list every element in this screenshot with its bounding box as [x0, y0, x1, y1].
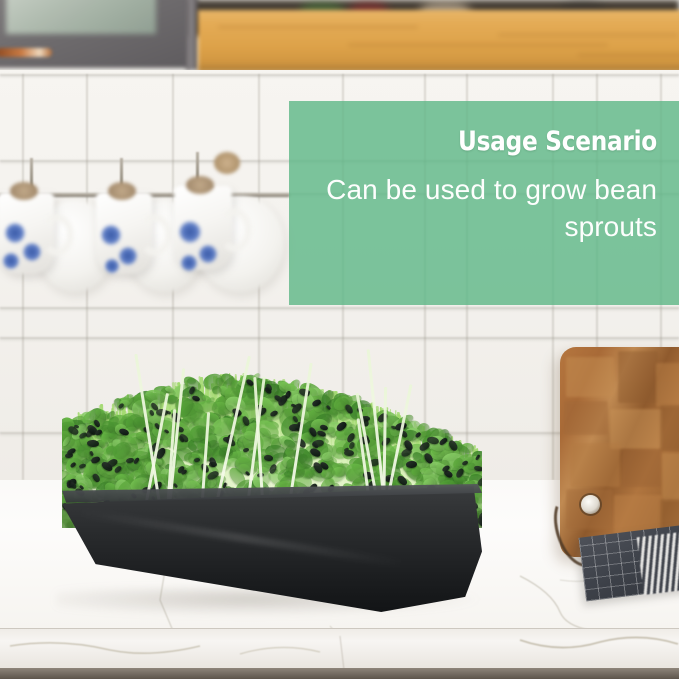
floral-pattern [100, 224, 122, 246]
floral-pattern [22, 242, 42, 262]
floral-pattern [104, 258, 120, 274]
sprout-leaf [419, 468, 432, 475]
cabinet-handle [0, 48, 52, 57]
wooden-hook-knob [214, 152, 240, 174]
floral-pattern [180, 254, 198, 272]
floral-pattern [2, 252, 20, 270]
seed-hull [344, 449, 354, 456]
grout-line-horizontal [0, 307, 679, 309]
cabinet-edge [186, 0, 198, 70]
seed-hull [87, 439, 99, 447]
floral-pattern [4, 222, 26, 244]
mug-handle [138, 214, 172, 256]
usage-scenario-body: Can be used to grow bean sprouts [289, 171, 657, 245]
floral-pattern [118, 246, 138, 266]
floral-pattern [178, 220, 202, 244]
mug-knob [108, 182, 136, 200]
mug-handle [218, 208, 252, 252]
mug-handle [40, 214, 74, 256]
sprout-tray [62, 338, 482, 618]
mug-knob [10, 182, 38, 200]
marble-veining-edge [0, 628, 679, 670]
cabinet-glass-pane [6, 0, 156, 34]
wooden-shelf [198, 10, 679, 72]
seed-hull [405, 460, 416, 467]
product-scene: Usage Scenario Can be used to grow bean … [0, 0, 679, 679]
grout-line-vertical [22, 74, 24, 480]
tea-towel-fringe [637, 531, 679, 595]
counter-underside [0, 668, 679, 679]
board-hanging-hole [581, 495, 600, 514]
floral-pattern [198, 244, 218, 264]
usage-scenario-panel: Usage Scenario Can be used to grow bean … [289, 101, 679, 305]
mug-knob [186, 176, 214, 194]
grout-line-horizontal [0, 74, 679, 76]
usage-scenario-heading: Usage Scenario [341, 127, 657, 157]
seed-hull [193, 457, 200, 462]
